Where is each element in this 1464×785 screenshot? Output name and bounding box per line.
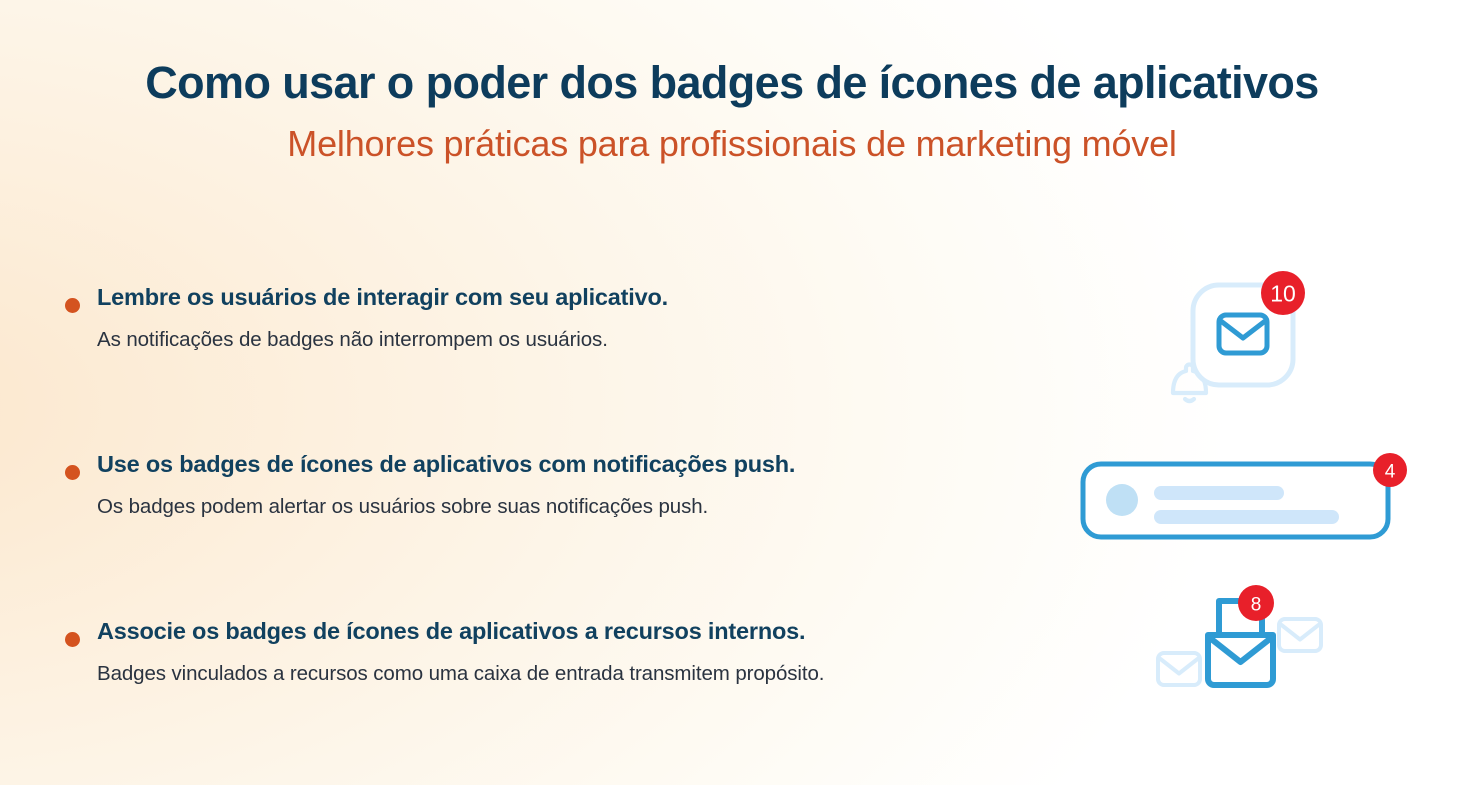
bullet-dot-icon xyxy=(65,465,80,480)
avatar-circle-icon xyxy=(1106,484,1138,516)
header: Como usar o poder dos badges de ícones d… xyxy=(0,58,1464,165)
page-title: Como usar o poder dos badges de ícones d… xyxy=(0,58,1464,108)
bullet-dot-icon xyxy=(65,298,80,313)
illustration-app-icon-with-mail-and-bell: 10 xyxy=(1150,265,1340,415)
badge-label: 4 xyxy=(1385,462,1396,483)
illustration-push-notification-card: 4 xyxy=(1070,448,1420,553)
text-line-icon xyxy=(1154,510,1339,524)
mail-icon xyxy=(1279,619,1321,651)
badge-count-4: 4 xyxy=(1373,453,1407,487)
page-subtitle: Melhores práticas para profissionais de … xyxy=(0,124,1464,164)
badge-label: 8 xyxy=(1251,595,1262,616)
mail-icon xyxy=(1158,653,1200,685)
illustration-inbox-open-envelope-group: 8 xyxy=(1140,583,1340,703)
badge-label: 10 xyxy=(1270,281,1296,307)
text-line-icon xyxy=(1154,486,1284,500)
badge-count-10: 10 xyxy=(1261,271,1305,315)
bullet-dot-icon xyxy=(65,632,80,647)
badge-count-8: 8 xyxy=(1238,585,1274,621)
slide-canvas: Como usar o poder dos badges de ícones d… xyxy=(0,0,1464,785)
